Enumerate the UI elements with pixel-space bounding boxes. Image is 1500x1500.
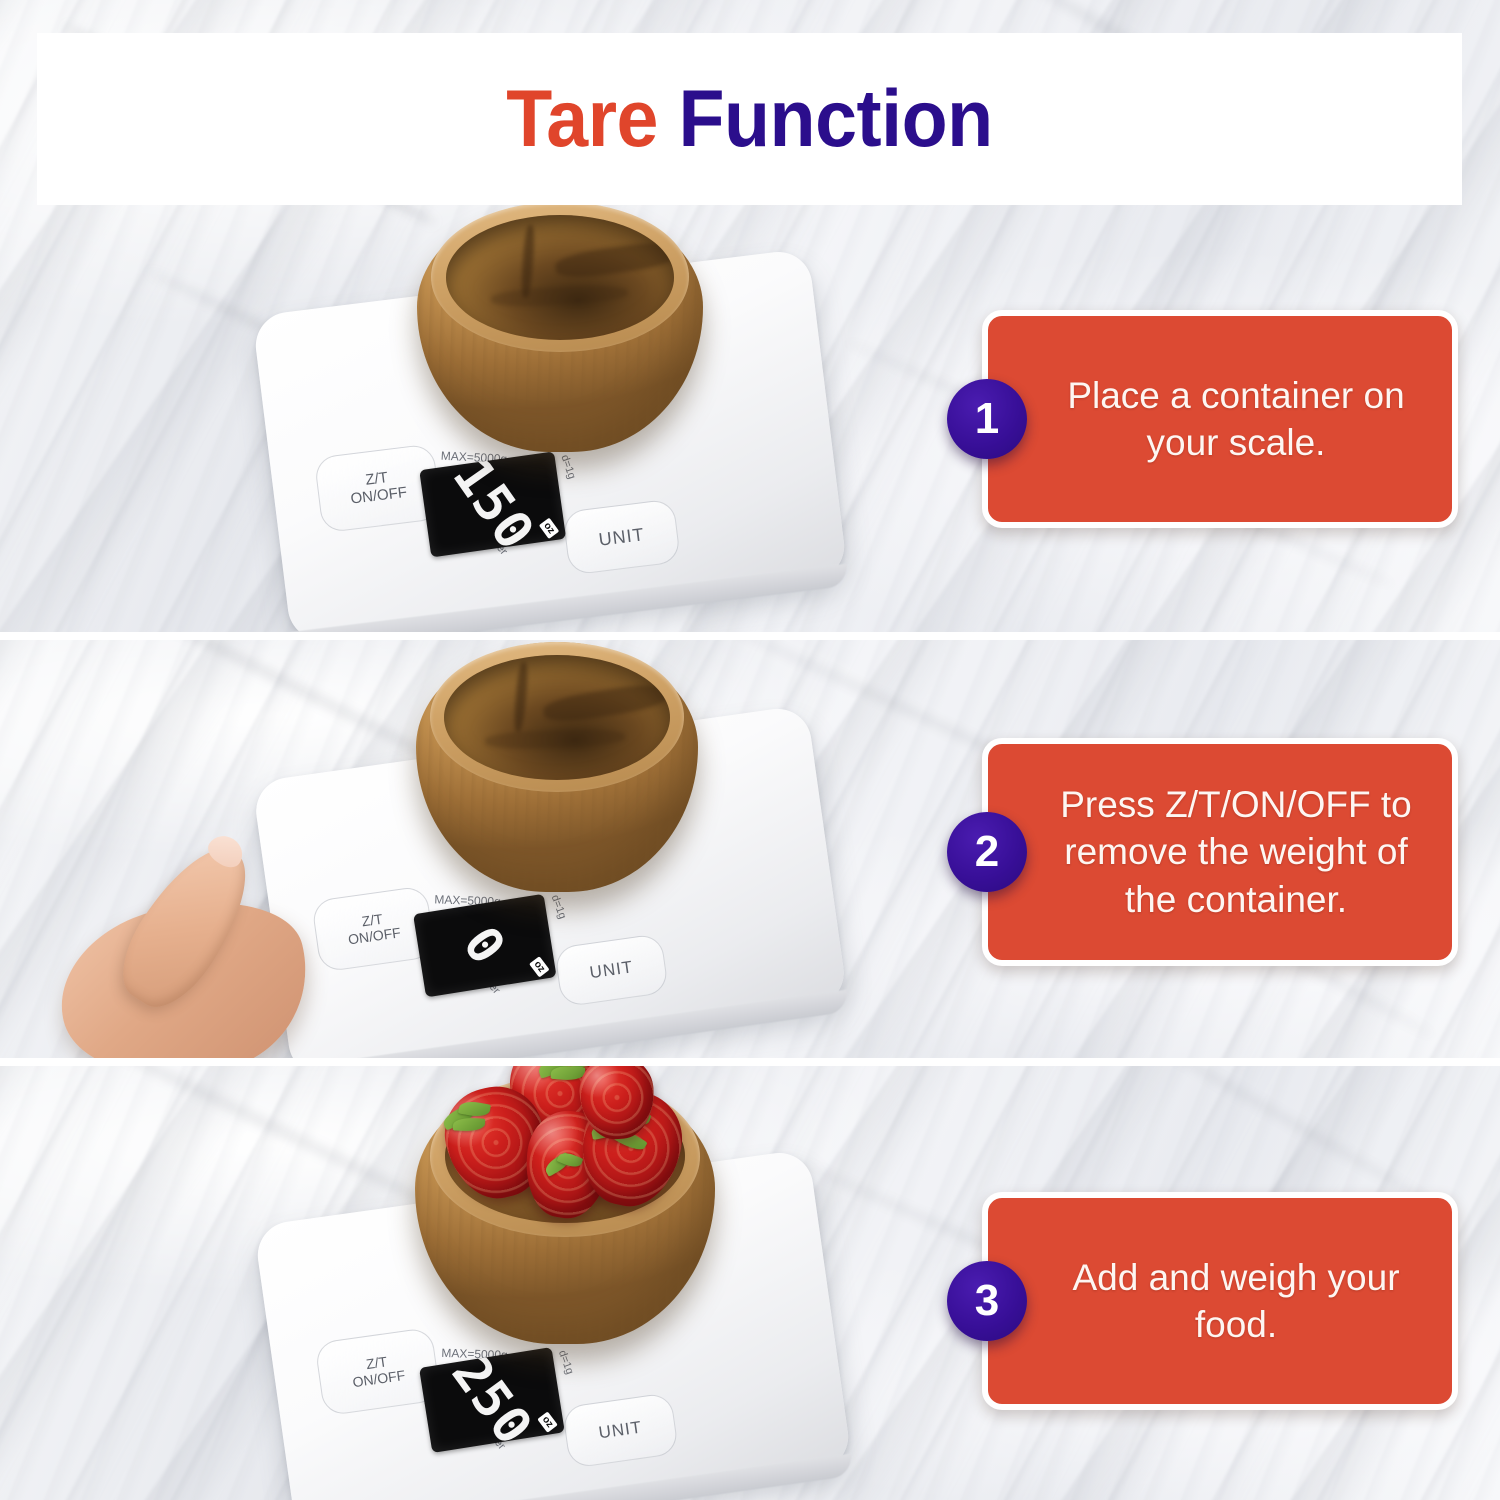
title-word-tare: Tare — [506, 74, 658, 164]
tare-button-line2-3: ON/OFF — [352, 1367, 407, 1390]
unit-button-3[interactable]: UNIT — [562, 1392, 680, 1469]
unit-button-label-3: UNIT — [597, 1418, 643, 1443]
strawberries-group — [442, 1066, 688, 1242]
hand-pressing-tare — [120, 832, 450, 1052]
division-label-1: d=1g — [558, 453, 577, 480]
wooden-bowl-3 — [415, 1076, 715, 1344]
lcd-display-3: 250 oz — [419, 1347, 565, 1453]
callout-text-2: Press Z/T/ON/OFF to remove the weight of… — [988, 781, 1452, 923]
scale-scene-1: Z/T ON/OFF UNIT MAX=5000g d=1g Weight Mi… — [255, 196, 875, 632]
unit-button-label-2: UNIT — [589, 958, 635, 983]
page-title: Tare Function — [506, 79, 992, 160]
callout-box-1: Place a container on your scale. — [982, 310, 1458, 528]
callout-text-3: Add and weigh your food. — [988, 1254, 1452, 1349]
title-word-function: Function — [678, 74, 992, 164]
lcd-unit-3: oz — [537, 1411, 558, 1432]
callout-step-1: Place a container on your scale. 1 — [982, 310, 1458, 528]
panel-divider-1 — [0, 632, 1500, 640]
lcd-display-1: 150 oz — [419, 451, 566, 557]
scale-scene-3: Z/T ON/OFF UNIT MAX=5000g d=1g Weight Mi… — [255, 1066, 895, 1500]
unit-button-2[interactable]: UNIT — [554, 933, 669, 1007]
step-panel-3: Z/T ON/OFF UNIT MAX=5000g d=1g Weight Mi… — [0, 1066, 1500, 1500]
step-badge-1: 1 — [947, 379, 1027, 459]
scale-scene-2: Z/T ON/OFF UNIT MAX=5000g d=1g Weight Mi… — [250, 640, 890, 1052]
division-label-3: d=1g — [556, 1349, 576, 1376]
division-label-2: d=1g — [549, 893, 569, 920]
step-badge-2: 2 — [947, 812, 1027, 892]
lcd-value-3: 250 — [443, 1347, 540, 1453]
panel-divider-2 — [0, 1058, 1500, 1066]
lcd-value-1: 150 — [444, 451, 542, 557]
callout-box-2: Press Z/T/ON/OFF to remove the weight of… — [982, 738, 1458, 966]
wooden-bowl-1 — [417, 202, 703, 452]
step-panel-2: Z/T ON/OFF UNIT MAX=5000g d=1g Weight Mi… — [0, 640, 1500, 1058]
infographic-root: Z/T ON/OFF UNIT MAX=5000g d=1g Weight Mi… — [0, 0, 1500, 1500]
tare-button-line2: ON/OFF — [350, 484, 408, 508]
title-banner: Tare Function — [37, 33, 1462, 205]
callout-step-3: Add and weigh your food. 3 — [982, 1192, 1458, 1410]
unit-button-1[interactable]: UNIT — [562, 498, 681, 575]
lcd-value-2: 0 — [455, 918, 514, 973]
callout-text-1: Place a container on your scale. — [988, 372, 1452, 467]
callout-box-3: Add and weigh your food. — [982, 1192, 1458, 1410]
callout-step-2: Press Z/T/ON/OFF to remove the weight of… — [982, 738, 1458, 966]
strawberry — [577, 1066, 656, 1141]
unit-button-label: UNIT — [598, 524, 646, 550]
strawberry-leaf-icon — [437, 1095, 511, 1147]
lcd-unit-2: oz — [529, 956, 550, 977]
wooden-bowl-2 — [416, 642, 698, 892]
step-badge-3: 3 — [947, 1261, 1027, 1341]
